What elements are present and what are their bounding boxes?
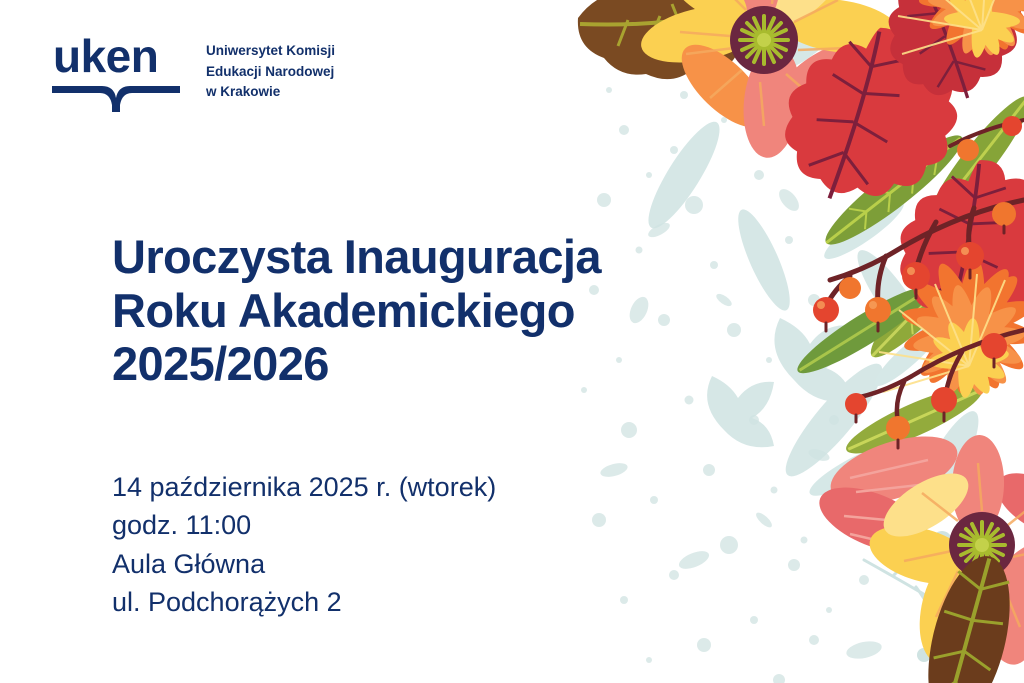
event-address: ul. Podchorążych 2 [112, 583, 496, 621]
autumn-floral-illustration [564, 0, 1024, 683]
brown-oak-leaf [913, 548, 1024, 683]
paint-splatter [581, 87, 883, 683]
logo-subtitle: Uniwersytet Komisji Edukacji Narodowej w… [206, 33, 335, 103]
stamens [959, 522, 1005, 568]
poster-canvas: uken Uniwersytet Komisji Edukacji Narodo… [0, 0, 1024, 683]
red-oak-leaf [862, 0, 1024, 118]
ghost-leaf [638, 114, 990, 536]
berry [1002, 116, 1022, 136]
logo-wordmark: uken [52, 33, 180, 79]
logo-subtitle-line-3: w Krakowie [206, 84, 280, 99]
event-date: 14 października 2025 r. (wtorek) [112, 468, 496, 506]
logo-subtitle-line-2: Edukacji Narodowej [206, 64, 334, 79]
berries [845, 333, 1007, 448]
event-time: godz. 11:00 [112, 506, 496, 544]
olive-willow-leaf [790, 26, 1024, 465]
flower-center [730, 6, 798, 74]
ghost-berry-branch [814, 114, 994, 639]
flower-center [949, 512, 1015, 578]
event-details: 14 października 2025 r. (wtorek) godz. 1… [112, 468, 496, 621]
logo-subtitle-line-1: Uniwersytet Komisji [206, 43, 335, 58]
red-oak-leaf [887, 148, 1024, 343]
ghost-berries [876, 105, 1005, 662]
brown-oak-leaf [578, 0, 771, 79]
headline-line-3: 2025/2026 [112, 337, 601, 391]
event-venue: Aula Główna [112, 545, 496, 583]
berry [957, 139, 979, 161]
yellow-daisy-flower [863, 434, 1024, 670]
salmon-petal-cluster [810, 423, 965, 566]
headline-line-2: Roku Akademickiego [112, 284, 601, 338]
ghost-willow-leaf [773, 3, 949, 504]
rose-hip-berry-branch [950, 116, 1024, 161]
rose-hip-berry-branch [813, 200, 1024, 331]
red-oak-leaf [766, 8, 976, 226]
stamens [740, 16, 788, 64]
petals [636, 0, 903, 161]
orange-chrysanthemum [879, 257, 1024, 399]
logo-mark: uken [52, 33, 180, 112]
yellow-daisy-flower [636, 0, 903, 161]
berries [813, 202, 1016, 331]
open-book-icon [52, 86, 180, 112]
uken-logo: uken Uniwersytet Komisji Edukacji Narodo… [52, 33, 335, 112]
page-title: Uroczysta Inauguracja Roku Akademickiego… [112, 230, 601, 391]
rose-hip-berry-branch [845, 330, 1024, 448]
orange-chrysanthemum [898, 0, 1024, 59]
headline-line-1: Uroczysta Inauguracja [112, 230, 601, 284]
petals [863, 434, 1024, 670]
